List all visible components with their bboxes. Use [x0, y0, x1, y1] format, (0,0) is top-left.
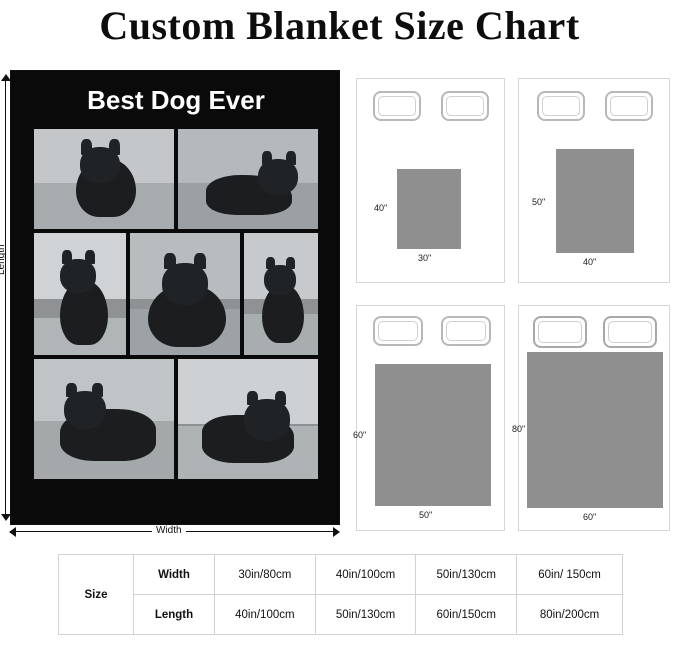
- bed-card-30x40-length: 40": [374, 203, 387, 213]
- blanket-block: [397, 169, 461, 249]
- length-axis-line: [5, 80, 6, 515]
- blanket-preview: Best Dog Ever: [10, 70, 340, 525]
- photo-tile: [34, 359, 174, 479]
- length-cell-4: 80in/200cm: [517, 595, 623, 635]
- row-header-length: Length: [134, 595, 215, 635]
- bed-card-40x50-length: 50": [532, 197, 545, 207]
- blanket-block: [527, 352, 663, 508]
- table-row: Length 40in/100cm 50in/130cm 60in/150cm …: [59, 595, 623, 635]
- bed-card-40x50-width: 40": [583, 257, 596, 267]
- bed-card-60x80: 80" 60": [518, 305, 670, 531]
- pillow-icon: [373, 316, 423, 346]
- photo-tile: [178, 129, 318, 229]
- pillow-icon: [537, 91, 585, 121]
- blanket-caption: Best Dog Ever: [11, 85, 341, 116]
- blanket-block: [375, 364, 491, 506]
- width-cell-2: 40in/100cm: [315, 555, 416, 595]
- blanket-block: [556, 149, 634, 253]
- photo-tile: [178, 359, 318, 479]
- width-arrow-right: [333, 527, 340, 537]
- width-cell-4: 60in/ 150cm: [517, 555, 623, 595]
- pillow-icon: [603, 316, 657, 348]
- bed-card-50x60-width: 50": [419, 510, 432, 520]
- bed-card-60x80-width: 60": [583, 512, 596, 522]
- table-row: Size Width 30in/80cm 40in/100cm 50in/130…: [59, 555, 623, 595]
- bed-card-50x60: 60" 50": [356, 305, 505, 531]
- length-cell-1: 40in/100cm: [215, 595, 316, 635]
- size-header-cell: Size: [59, 555, 134, 635]
- width-label: Width: [152, 525, 186, 536]
- pillow-icon: [441, 316, 491, 346]
- bed-card-40x50: 50" 40": [518, 78, 670, 283]
- length-label: Length: [0, 244, 7, 275]
- photo-tile: [130, 233, 240, 355]
- bed-card-50x60-length: 60": [353, 430, 366, 440]
- page-title: Custom Blanket Size Chart: [0, 2, 679, 49]
- width-cell-3: 50in/130cm: [416, 555, 517, 595]
- pillow-icon: [441, 91, 489, 121]
- photo-tile: [34, 129, 174, 229]
- row-header-width: Width: [134, 555, 215, 595]
- bed-card-60x80-length: 80": [512, 424, 525, 434]
- length-cell-3: 60in/150cm: [416, 595, 517, 635]
- pillow-icon: [373, 91, 421, 121]
- photo-tile: [244, 233, 318, 355]
- length-cell-2: 50in/130cm: [315, 595, 416, 635]
- width-arrow-left: [9, 527, 16, 537]
- bed-card-30x40-width: 30": [418, 253, 431, 263]
- bed-card-30x40: 40" 30": [356, 78, 505, 283]
- photo-tile: [34, 233, 126, 355]
- size-table: Size Width 30in/80cm 40in/100cm 50in/130…: [58, 554, 623, 635]
- pillow-icon: [533, 316, 587, 348]
- length-arrow-down: [1, 514, 11, 521]
- pillow-icon: [605, 91, 653, 121]
- width-cell-1: 30in/80cm: [215, 555, 316, 595]
- length-arrow-up: [1, 74, 11, 81]
